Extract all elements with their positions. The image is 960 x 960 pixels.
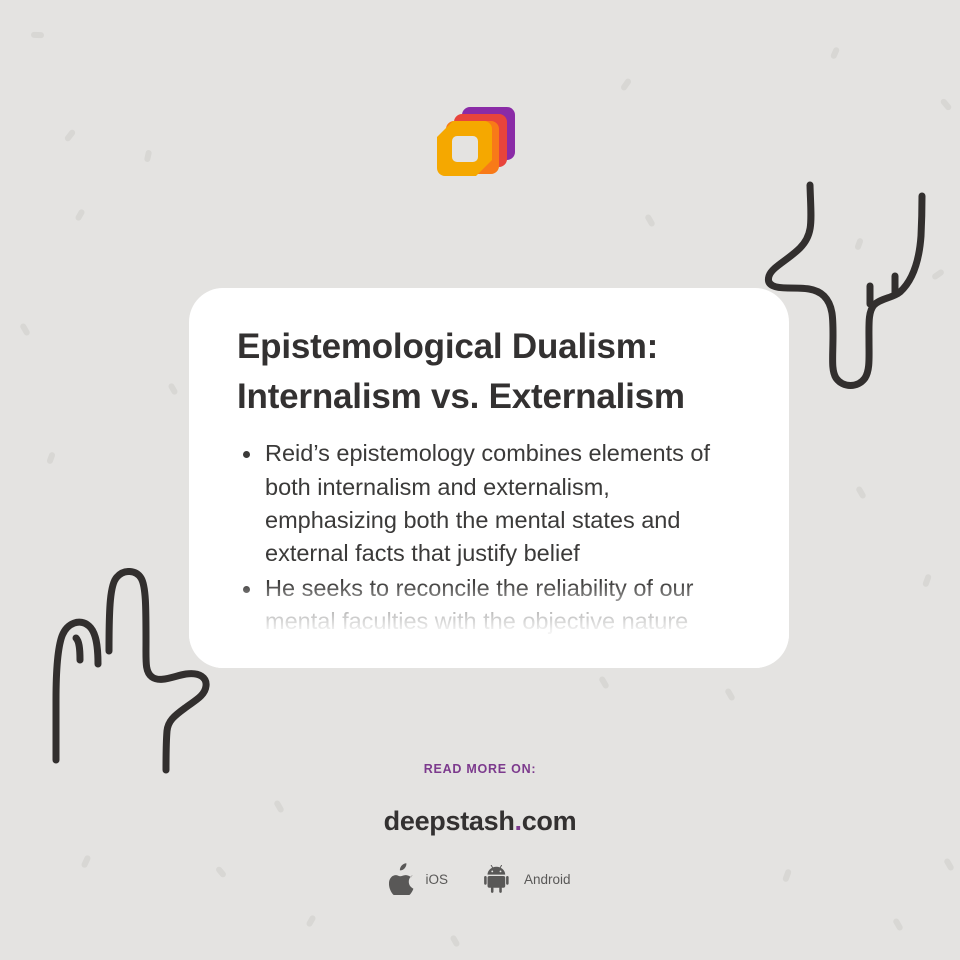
idea-card-canvas: Epistemological Dualism: Internalism vs.… xyxy=(0,0,960,960)
confetti-speck xyxy=(922,573,932,587)
confetti-speck xyxy=(855,485,867,499)
store-badge-label: iOS xyxy=(425,872,448,887)
card-bullet-item: He seeks to reconcile the reliability of… xyxy=(237,572,743,639)
apple-logo-icon xyxy=(389,863,415,895)
confetti-speck xyxy=(19,322,31,336)
store-badges: iOS xyxy=(0,863,960,895)
store-badge-ios[interactable]: iOS xyxy=(389,863,448,895)
site-wordmark-tld: com xyxy=(522,806,577,836)
confetti-speck xyxy=(46,451,56,464)
confetti-speck xyxy=(305,914,316,927)
footer: READ MORE ON: deepstash.com iOS xyxy=(0,762,960,895)
confetti-speck xyxy=(940,98,953,112)
site-wordmark-dot: . xyxy=(515,806,522,836)
card-bullet-item: Reid’s epistemology combines elements of… xyxy=(237,437,743,570)
confetti-speck xyxy=(144,150,152,163)
deepstash-logo-icon xyxy=(428,104,518,196)
store-badge-android[interactable]: Android xyxy=(484,865,571,893)
confetti-speck xyxy=(644,213,656,227)
confetti-speck xyxy=(449,934,460,947)
android-robot-icon xyxy=(484,865,514,893)
confetti-speck xyxy=(64,129,77,143)
confetti-speck xyxy=(167,382,178,395)
card-bullet-list: Reid’s epistemology combines elements of… xyxy=(237,437,743,638)
confetti-speck xyxy=(854,237,864,250)
site-wordmark-name: deepstash xyxy=(384,806,515,836)
idea-card[interactable]: Epistemological Dualism: Internalism vs.… xyxy=(189,288,789,668)
confetti-speck xyxy=(931,268,945,280)
read-more-label: READ MORE ON: xyxy=(0,762,960,776)
pointing-hand-doodle-up-icon xyxy=(18,558,218,778)
store-badge-label: Android xyxy=(524,872,571,887)
confetti-speck xyxy=(620,77,632,91)
confetti-speck xyxy=(74,208,85,221)
confetti-speck xyxy=(598,675,610,689)
confetti-speck xyxy=(892,917,904,931)
confetti-speck xyxy=(31,32,44,38)
confetti-speck xyxy=(724,687,736,701)
site-wordmark[interactable]: deepstash.com xyxy=(0,806,960,837)
card-title: Epistemological Dualism: Internalism vs.… xyxy=(237,322,743,421)
confetti-speck xyxy=(830,46,840,59)
